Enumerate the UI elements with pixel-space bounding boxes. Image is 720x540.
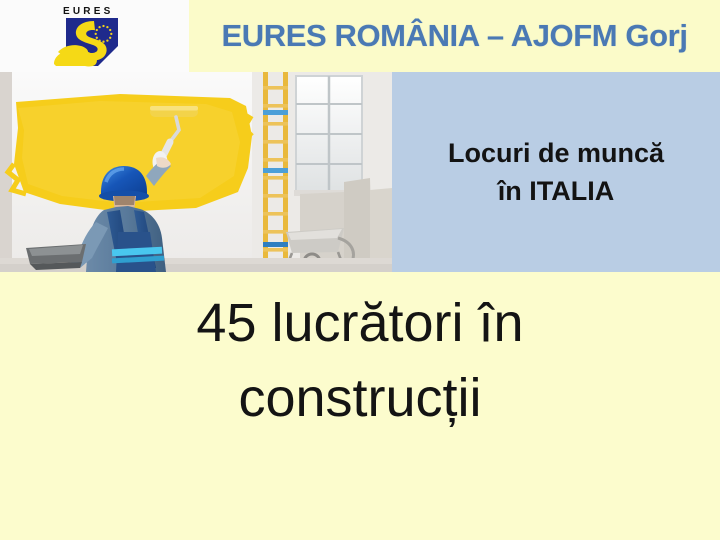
poster-canvas: EURES — [0, 0, 720, 540]
svg-text:EURES: EURES — [63, 6, 113, 17]
headline-block: 45 lucrători în construcții — [0, 272, 720, 540]
headline-line-2: construcții — [238, 361, 481, 436]
italy-jobs-line-1: Locuri de muncă — [448, 134, 664, 172]
header-band: EURES — [0, 0, 720, 72]
hero-photo — [0, 72, 392, 272]
headline-line-1: 45 lucrători în — [196, 286, 523, 361]
italy-jobs-line-2: în ITALIA — [498, 172, 614, 210]
header-title: EURES ROMÂNIA – AJOFM Gorj — [189, 0, 720, 72]
italy-jobs-panel: Locuri de muncă în ITALIA — [392, 72, 720, 272]
logo-plate: EURES — [0, 0, 189, 72]
eures-logo-icon: EURES — [48, 2, 144, 70]
painter-scene-illustration — [0, 72, 392, 272]
